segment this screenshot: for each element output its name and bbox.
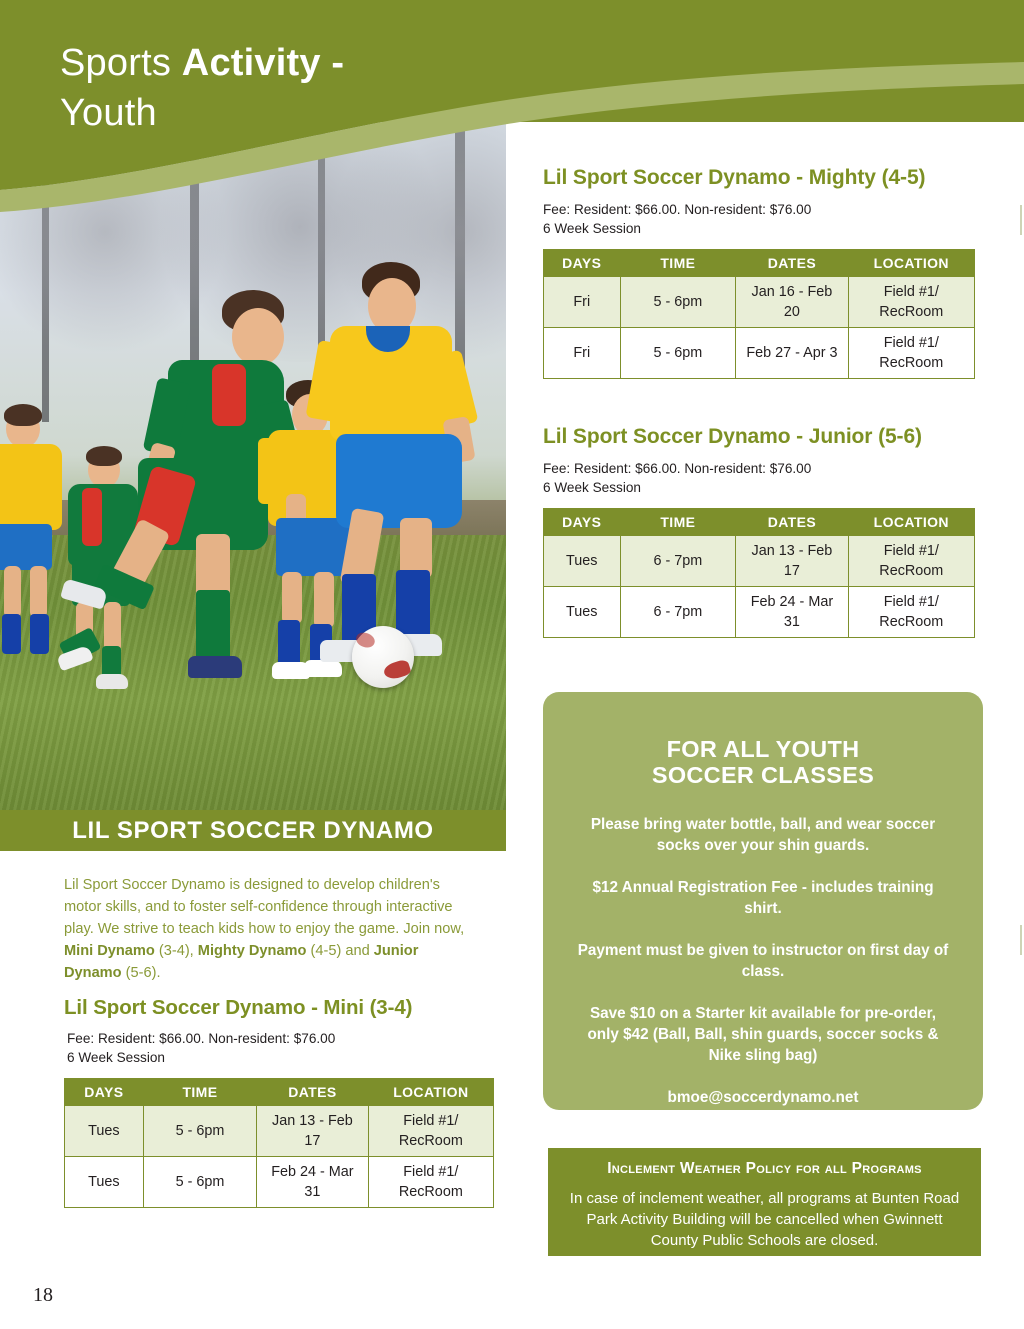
cell-dates: Feb 24 - Mar 31 xyxy=(257,1157,369,1208)
catalog-page: Sports Activity - Youth LIL SPORT SOCCER… xyxy=(0,0,1024,1329)
callout-heading-line1: FOR ALL YOUTH xyxy=(667,736,860,762)
table-row: Tues 5 - 6pm Feb 24 - Mar 31 Field #1/ R… xyxy=(65,1157,494,1208)
soccer-ball xyxy=(352,626,414,688)
callout-paragraph-equipment: Please bring water bottle, ball, and wea… xyxy=(573,814,953,856)
weather-policy-body: In case of inclement weather, all progra… xyxy=(564,1188,965,1251)
cell-dates: Jan 16 - Feb 20 xyxy=(736,277,848,328)
callout-contact-email[interactable]: bmoe@soccerdynamo.net xyxy=(573,1087,953,1108)
table-header-row: DAYS TIME DATES LOCATION xyxy=(544,509,975,536)
intro-bold-mini: Mini Dynamo xyxy=(64,943,155,959)
cell-location: Field #1/ RecRoom xyxy=(848,587,974,638)
section-mini: Lil Sport Soccer Dynamo - Mini (3-4) Fee… xyxy=(64,996,494,1208)
table-row: Tues 6 - 7pm Jan 13 - Feb 17 Field #1/ R… xyxy=(544,536,975,587)
section-junior: Lil Sport Soccer Dynamo - Junior (5-6) F… xyxy=(543,425,983,638)
column-header-location: LOCATION xyxy=(368,1079,493,1106)
column-header-location: LOCATION xyxy=(848,509,974,536)
section-mini-fee: Fee: Resident: $66.00. Non-resident: $76… xyxy=(67,1029,494,1048)
cell-time: 6 - 7pm xyxy=(620,536,736,587)
intro-text-part1: Lil Sport Soccer Dynamo is designed to d… xyxy=(64,877,464,937)
cell-location: Field #1/ RecRoom xyxy=(848,536,974,587)
cell-time: 5 - 6pm xyxy=(143,1106,256,1157)
photo-caption-text: LIL SPORT SOCCER DYNAMO xyxy=(72,817,433,845)
photo-caption-banner: LIL SPORT SOCCER DYNAMO xyxy=(0,810,506,851)
cell-days: Fri xyxy=(544,277,621,328)
page-title-line2: Youth xyxy=(60,92,157,134)
cell-days: Tues xyxy=(544,587,621,638)
section-junior-fee: Fee: Resident: $66.00. Non-resident: $76… xyxy=(543,459,983,478)
column-header-days: DAYS xyxy=(65,1079,144,1106)
callout-paragraph-registration-fee: $12 Annual Registration Fee - includes t… xyxy=(573,877,953,919)
schedule-table-mini: DAYS TIME DATES LOCATION Tues 5 - 6pm Ja… xyxy=(64,1078,494,1208)
cell-location: Field #1/ RecRoom xyxy=(368,1157,493,1208)
section-junior-session: 6 Week Session xyxy=(543,478,983,497)
cell-location: Field #1/ RecRoom xyxy=(848,328,974,379)
callout-paragraph-starter-kit: Save $10 on a Starter kit available for … xyxy=(573,1003,953,1066)
table-header-row: DAYS TIME DATES LOCATION xyxy=(65,1079,494,1106)
section-junior-title: Lil Sport Soccer Dynamo - Junior (5-6) xyxy=(543,425,983,449)
column-header-location: LOCATION xyxy=(848,250,974,277)
column-header-days: DAYS xyxy=(544,509,621,536)
column-header-dates: DATES xyxy=(736,509,848,536)
section-mighty-fee: Fee: Resident: $66.00. Non-resident: $76… xyxy=(543,200,983,219)
callout-heading-line2: SOCCER CLASSES xyxy=(652,762,874,788)
intro-text-mid1: (3-4), xyxy=(155,943,198,959)
print-crop-mark xyxy=(1020,205,1022,235)
column-header-days: DAYS xyxy=(544,250,621,277)
table-row: Fri 5 - 6pm Feb 27 - Apr 3 Field #1/ Rec… xyxy=(544,328,975,379)
callout-heading: FOR ALL YOUTH SOCCER CLASSES xyxy=(573,736,953,788)
cell-time: 5 - 6pm xyxy=(620,328,736,379)
column-header-time: TIME xyxy=(620,509,736,536)
cell-dates: Feb 24 - Mar 31 xyxy=(736,587,848,638)
intro-text-mid3: (5-6). xyxy=(122,965,161,981)
column-header-time: TIME xyxy=(143,1079,256,1106)
intro-bold-mighty: Mighty Dynamo xyxy=(198,943,307,959)
section-mighty-title: Lil Sport Soccer Dynamo - Mighty (4-5) xyxy=(543,166,983,190)
weather-policy-title: Inclement Weather Policy for all Program… xyxy=(564,1160,965,1178)
cell-days: Tues xyxy=(544,536,621,587)
section-mighty-session: 6 Week Session xyxy=(543,219,983,238)
cell-time: 5 - 6pm xyxy=(620,277,736,328)
section-mighty: Lil Sport Soccer Dynamo - Mighty (4-5) F… xyxy=(543,166,983,379)
intro-text-mid2: (4-5) and xyxy=(306,943,373,959)
table-row: Tues 6 - 7pm Feb 24 - Mar 31 Field #1/ R… xyxy=(544,587,975,638)
youth-soccer-callout-box: FOR ALL YOUTH SOCCER CLASSES Please brin… xyxy=(543,692,983,1110)
cell-days: Tues xyxy=(65,1106,144,1157)
section-mini-title: Lil Sport Soccer Dynamo - Mini (3-4) xyxy=(64,996,494,1020)
page-title-bold: Activity - xyxy=(182,42,344,84)
cell-time: 5 - 6pm xyxy=(143,1157,256,1208)
intro-paragraph: Lil Sport Soccer Dynamo is designed to d… xyxy=(64,874,476,984)
section-mini-session: 6 Week Session xyxy=(67,1048,494,1067)
schedule-table-junior: DAYS TIME DATES LOCATION Tues 6 - 7pm Ja… xyxy=(543,508,975,638)
soccer-photo xyxy=(0,122,506,810)
cell-location: Field #1/ RecRoom xyxy=(368,1106,493,1157)
cell-location: Field #1/ RecRoom xyxy=(848,277,974,328)
print-crop-mark xyxy=(1020,925,1022,955)
page-title-light: Sports xyxy=(60,42,182,84)
page-title: Sports Activity - Youth xyxy=(60,38,490,138)
cell-days: Tues xyxy=(65,1157,144,1208)
column-header-dates: DATES xyxy=(736,250,848,277)
table-header-row: DAYS TIME DATES LOCATION xyxy=(544,250,975,277)
column-header-time: TIME xyxy=(620,250,736,277)
column-header-dates: DATES xyxy=(257,1079,369,1106)
cell-days: Fri xyxy=(544,328,621,379)
cell-dates: Feb 27 - Apr 3 xyxy=(736,328,848,379)
cell-dates: Jan 13 - Feb 17 xyxy=(736,536,848,587)
cell-dates: Jan 13 - Feb 17 xyxy=(257,1106,369,1157)
page-number: 18 xyxy=(33,1284,53,1307)
cell-time: 6 - 7pm xyxy=(620,587,736,638)
table-row: Tues 5 - 6pm Jan 13 - Feb 17 Field #1/ R… xyxy=(65,1106,494,1157)
table-row: Fri 5 - 6pm Jan 16 - Feb 20 Field #1/ Re… xyxy=(544,277,975,328)
inclement-weather-policy-box: Inclement Weather Policy for all Program… xyxy=(548,1148,981,1256)
schedule-table-mighty: DAYS TIME DATES LOCATION Fri 5 - 6pm Jan… xyxy=(543,249,975,379)
callout-paragraph-payment: Payment must be given to instructor on f… xyxy=(573,940,953,982)
